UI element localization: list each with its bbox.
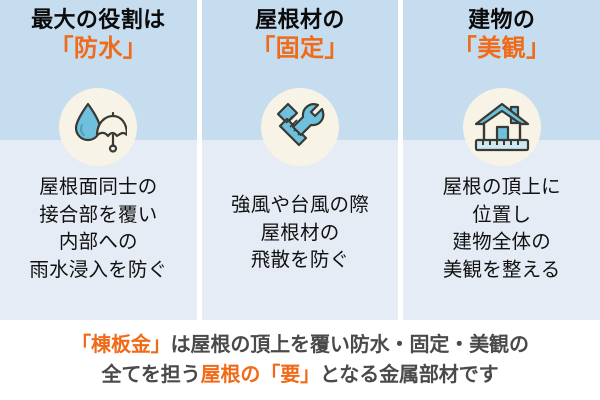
body-line: 接合部を覆い — [0, 202, 197, 230]
body-line: 雨水浸入を防ぐ — [0, 257, 197, 285]
heading-line-1: 建物の — [403, 7, 600, 34]
body-line: 飛散を防ぐ — [202, 247, 399, 275]
body-line: 建物全体の — [403, 229, 600, 257]
body-line: 屋根材の — [202, 220, 399, 248]
body-line: 美観を整える — [403, 257, 600, 285]
column-body-text: 屋根面同士の 接合部を覆い 内部への 雨水浸入を防ぐ — [0, 174, 197, 285]
banner-plain-text: 全てを担う — [101, 364, 200, 386]
column-content: 建物の 「美観」 屋根の頂上に 位置し 建物全体の 美観を整える — [403, 0, 600, 320]
heading-line-2-accent: 「固定」 — [202, 34, 399, 63]
body-line: 強風や台風の際 — [202, 192, 399, 220]
feature-columns: 最大の役割は 「防水」 屋根面同士の 接合部を覆い 内部への 雨水浸入を防ぐ — [0, 0, 600, 320]
feature-column-appearance: 建物の 「美観」 屋根の頂上に 位置し 建物全体の 美観を整える — [403, 0, 600, 320]
heading-line-2-accent: 「防水」 — [0, 34, 197, 63]
feature-column-fixing: 屋根材の 「固定」 強風や台風の際 屋根材の 飛散を防ぐ — [202, 0, 399, 320]
feature-column-waterproofing: 最大の役割は 「防水」 屋根面同士の 接合部を覆い 内部への 雨水浸入を防ぐ — [0, 0, 197, 320]
summary-banner: 「棟板金」は屋根の頂上を覆い防水・固定・美観の 全てを担う屋根の「要」となる金属… — [0, 320, 600, 400]
infographic-root: 最大の役割は 「防水」 屋根面同士の 接合部を覆い 内部への 雨水浸入を防ぐ — [0, 0, 600, 400]
column-content: 屋根材の 「固定」 強風や台風の際 屋根材の 飛散を防ぐ — [202, 0, 399, 320]
body-line: 位置し — [403, 202, 600, 230]
body-line: 内部への — [0, 229, 197, 257]
heading-line-1: 最大の役割は — [0, 7, 197, 34]
summary-banner-line-2: 全てを担う屋根の「要」となる金属部材です — [101, 360, 498, 390]
column-body-text: 強風や台風の際 屋根材の 飛散を防ぐ — [202, 192, 399, 275]
banner-accent-text: 「棟板金」 — [71, 334, 171, 356]
banner-plain-text: は屋根の頂上を覆い防水・固定・美観の — [171, 334, 529, 356]
summary-banner-line-1: 「棟板金」は屋根の頂上を覆い防水・固定・美観の — [71, 330, 529, 360]
banner-accent-text: 屋根の「要」 — [201, 364, 320, 386]
column-heading: 建物の 「美観」 — [403, 7, 600, 63]
column-content: 最大の役割は 「防水」 屋根面同士の 接合部を覆い 内部への 雨水浸入を防ぐ — [0, 0, 197, 320]
heading-line-2-accent: 「美観」 — [403, 34, 600, 63]
column-heading: 最大の役割は 「防水」 — [0, 7, 197, 63]
column-heading: 屋根材の 「固定」 — [202, 7, 399, 63]
heading-line-1: 屋根材の — [202, 7, 399, 34]
body-line: 屋根面同士の — [0, 174, 197, 202]
column-body-text: 屋根の頂上に 位置し 建物全体の 美観を整える — [403, 174, 600, 285]
banner-plain-text: となる金属部材です — [320, 364, 499, 386]
body-line: 屋根の頂上に — [403, 174, 600, 202]
